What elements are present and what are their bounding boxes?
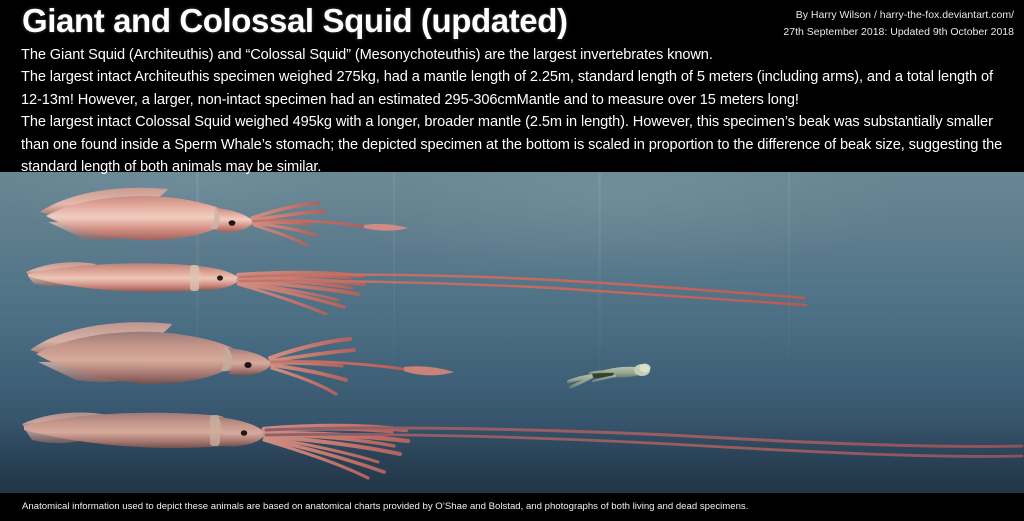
figure-colossal-squid-lower xyxy=(10,314,480,414)
description-paragraph-2: The largest intact Architeuthis specimen… xyxy=(21,66,1006,111)
squid-collar xyxy=(210,415,220,446)
squid-eye xyxy=(229,220,236,226)
squid-mantle-mid xyxy=(138,196,222,240)
squid-arms xyxy=(270,339,354,394)
description-paragraph-1: The Giant Squid (Architeuthis) and “Colo… xyxy=(21,44,1006,66)
credit-date: 27th September 2018: Updated 9th October… xyxy=(783,24,1014,41)
credit-author: By Harry Wilson / harry-the-fox.devianta… xyxy=(783,7,1014,24)
diver-hair xyxy=(640,364,651,373)
squid-eye xyxy=(241,430,247,436)
squid-mantle-mid xyxy=(136,332,232,384)
squid-head xyxy=(228,348,272,376)
figure-giant-squid-lower xyxy=(8,400,1024,493)
description-text: The Giant Squid (Architeuthis) and “Colo… xyxy=(21,44,1006,178)
squid-tentacle-club xyxy=(404,366,454,375)
credit-block: By Harry Wilson / harry-the-fox.devianta… xyxy=(783,7,1014,41)
squid-arms xyxy=(238,273,364,314)
header-panel: Giant and Colossal Squid (updated) By Ha… xyxy=(0,0,1024,172)
footer-panel: Anatomical information used to depict th… xyxy=(0,493,1024,521)
squid-collar xyxy=(190,265,199,291)
description-paragraph-3: The largest intact Colossal Squid weighe… xyxy=(21,111,1006,178)
squid-arms xyxy=(252,203,324,245)
squid-infographic: Giant and Colossal Squid (updated) By Ha… xyxy=(0,0,1024,521)
squid-tentacle-club xyxy=(364,224,408,231)
page-title: Giant and Colossal Squid (updated) xyxy=(22,2,568,40)
figure-human-diver xyxy=(552,346,672,406)
footer-note: Anatomical information used to depict th… xyxy=(22,499,748,514)
squid-head xyxy=(216,208,254,232)
squid-eye xyxy=(217,275,223,280)
squid-eye xyxy=(244,362,251,368)
underwater-scene xyxy=(0,172,1024,493)
